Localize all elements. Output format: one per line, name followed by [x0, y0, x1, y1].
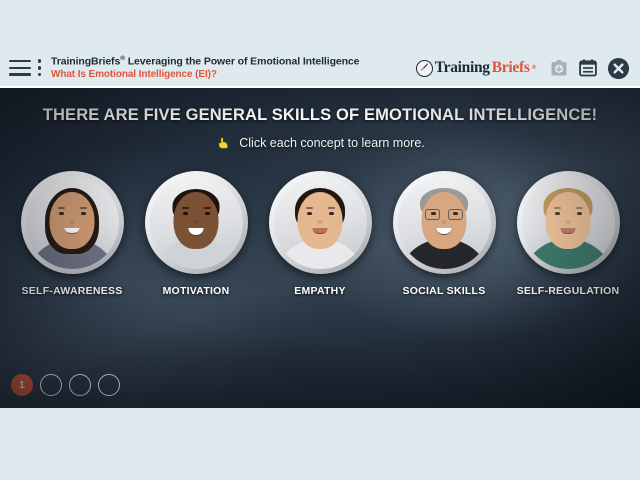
- concept-empathy[interactable]: EMPATHY: [266, 171, 374, 297]
- hamburger-line: [9, 67, 31, 70]
- slide-subtitle: Click each concept to learn more.: [239, 136, 425, 150]
- notes-icon-glyph: [578, 58, 598, 78]
- concept-list: SELF-AWARENESS: [0, 171, 640, 297]
- header-left-group: TrainingBriefs® Leveraging the Power of …: [0, 55, 416, 80]
- brand-registered-mark: ®: [532, 65, 536, 71]
- kebab-dot: [38, 66, 42, 70]
- nose: [70, 220, 75, 224]
- avatar[interactable]: [145, 171, 248, 274]
- concept-self-regulation[interactable]: SELF-REGULATION: [514, 171, 622, 297]
- clock-logo-icon: [416, 60, 433, 77]
- course-title: TrainingBriefs® Leveraging the Power of …: [51, 55, 359, 68]
- eye: [577, 212, 582, 215]
- nose: [194, 220, 199, 224]
- avatar-image: [26, 176, 119, 269]
- concept-motivation[interactable]: MOTIVATION: [142, 171, 250, 297]
- eye: [307, 212, 312, 215]
- kebab-dot: [38, 59, 42, 63]
- concept-label: MOTIVATION: [163, 285, 230, 297]
- avatar[interactable]: [517, 171, 620, 274]
- nose: [318, 220, 323, 224]
- header-title-group: TrainingBriefs® Leveraging the Power of …: [51, 55, 359, 80]
- concept-social-skills[interactable]: SOCIAL SKILLS: [390, 171, 498, 297]
- portrait-woman-dark-hair-gray-top: [26, 176, 119, 269]
- eye: [555, 212, 560, 215]
- download-icon-glyph: [549, 58, 569, 78]
- course-title-brand: TrainingBriefs: [51, 56, 120, 68]
- app-header: TrainingBriefs® Leveraging the Power of …: [0, 50, 640, 88]
- brow: [58, 207, 65, 209]
- brow: [576, 207, 583, 209]
- eye: [59, 212, 64, 215]
- course-title-rest: Leveraging the Power of Emotional Intell…: [125, 56, 360, 68]
- pagination-dot-3[interactable]: 3: [69, 374, 91, 396]
- close-icon-glyph: [607, 57, 630, 80]
- portrait-man-glasses-gray-hair-black-shirt: [398, 176, 491, 269]
- eye: [205, 212, 210, 215]
- concept-label: SELF-AWARENESS: [22, 285, 123, 297]
- pagination-dot-1[interactable]: 1: [11, 374, 33, 396]
- glasses-icon: [424, 209, 464, 219]
- portrait-woman-ponytail-white-top: [274, 176, 367, 269]
- brow: [204, 207, 211, 209]
- brand-word-briefs: Briefs: [492, 59, 530, 77]
- kebab-dot: [38, 73, 42, 77]
- concept-self-awareness[interactable]: SELF-AWARENESS: [18, 171, 126, 297]
- portrait-woman-blonde-green-top: [522, 176, 615, 269]
- slide-title: THERE ARE FIVE GENERAL SKILLS OF EMOTION…: [0, 106, 640, 125]
- concept-label: SOCIAL SKILLS: [403, 285, 486, 297]
- brand-word-training: Training: [435, 59, 490, 77]
- close-icon[interactable]: [607, 57, 630, 80]
- pagination-dot-2[interactable]: 2: [40, 374, 62, 396]
- concept-label: SELF-REGULATION: [517, 285, 620, 297]
- eye: [329, 212, 334, 215]
- avatar[interactable]: [393, 171, 496, 274]
- slide-stage: THERE ARE FIVE GENERAL SKILLS OF EMOTION…: [0, 88, 640, 408]
- brow: [182, 207, 189, 209]
- eye: [81, 212, 86, 215]
- brow: [554, 207, 561, 209]
- hamburger-line: [9, 73, 31, 76]
- eye: [183, 212, 188, 215]
- hamburger-menu-icon[interactable]: [9, 60, 31, 76]
- pagination-dot-4[interactable]: 4: [98, 374, 120, 396]
- avatar[interactable]: [269, 171, 372, 274]
- concept-label: EMPATHY: [294, 285, 346, 297]
- pointing-hand-icon: [215, 134, 232, 151]
- notes-icon[interactable]: [578, 58, 598, 78]
- slide-subtitle-row: Click each concept to learn more.: [0, 134, 640, 151]
- brow: [328, 207, 335, 209]
- nose: [566, 220, 571, 224]
- avatar-image: [150, 176, 243, 269]
- portrait-man-smiling-light-blazer: [150, 176, 243, 269]
- header-right-group: TrainingBriefs®: [416, 57, 640, 80]
- pagination: 1 2 3 4: [11, 374, 120, 396]
- avatar[interactable]: [21, 171, 124, 274]
- lesson-title[interactable]: What Is Emotional Intelligence (EI)?: [51, 69, 359, 81]
- nose: [442, 220, 447, 224]
- stage-content: THERE ARE FIVE GENERAL SKILLS OF EMOTION…: [0, 88, 640, 408]
- trainingbriefs-logo: TrainingBriefs®: [416, 59, 536, 77]
- avatar-image: [398, 176, 491, 269]
- download-icon[interactable]: [549, 58, 569, 78]
- brow: [306, 207, 313, 209]
- avatar-image: [274, 176, 367, 269]
- brow: [80, 207, 87, 209]
- more-options-icon[interactable]: [37, 59, 42, 76]
- avatar-image: [522, 176, 615, 269]
- hamburger-line: [9, 60, 31, 63]
